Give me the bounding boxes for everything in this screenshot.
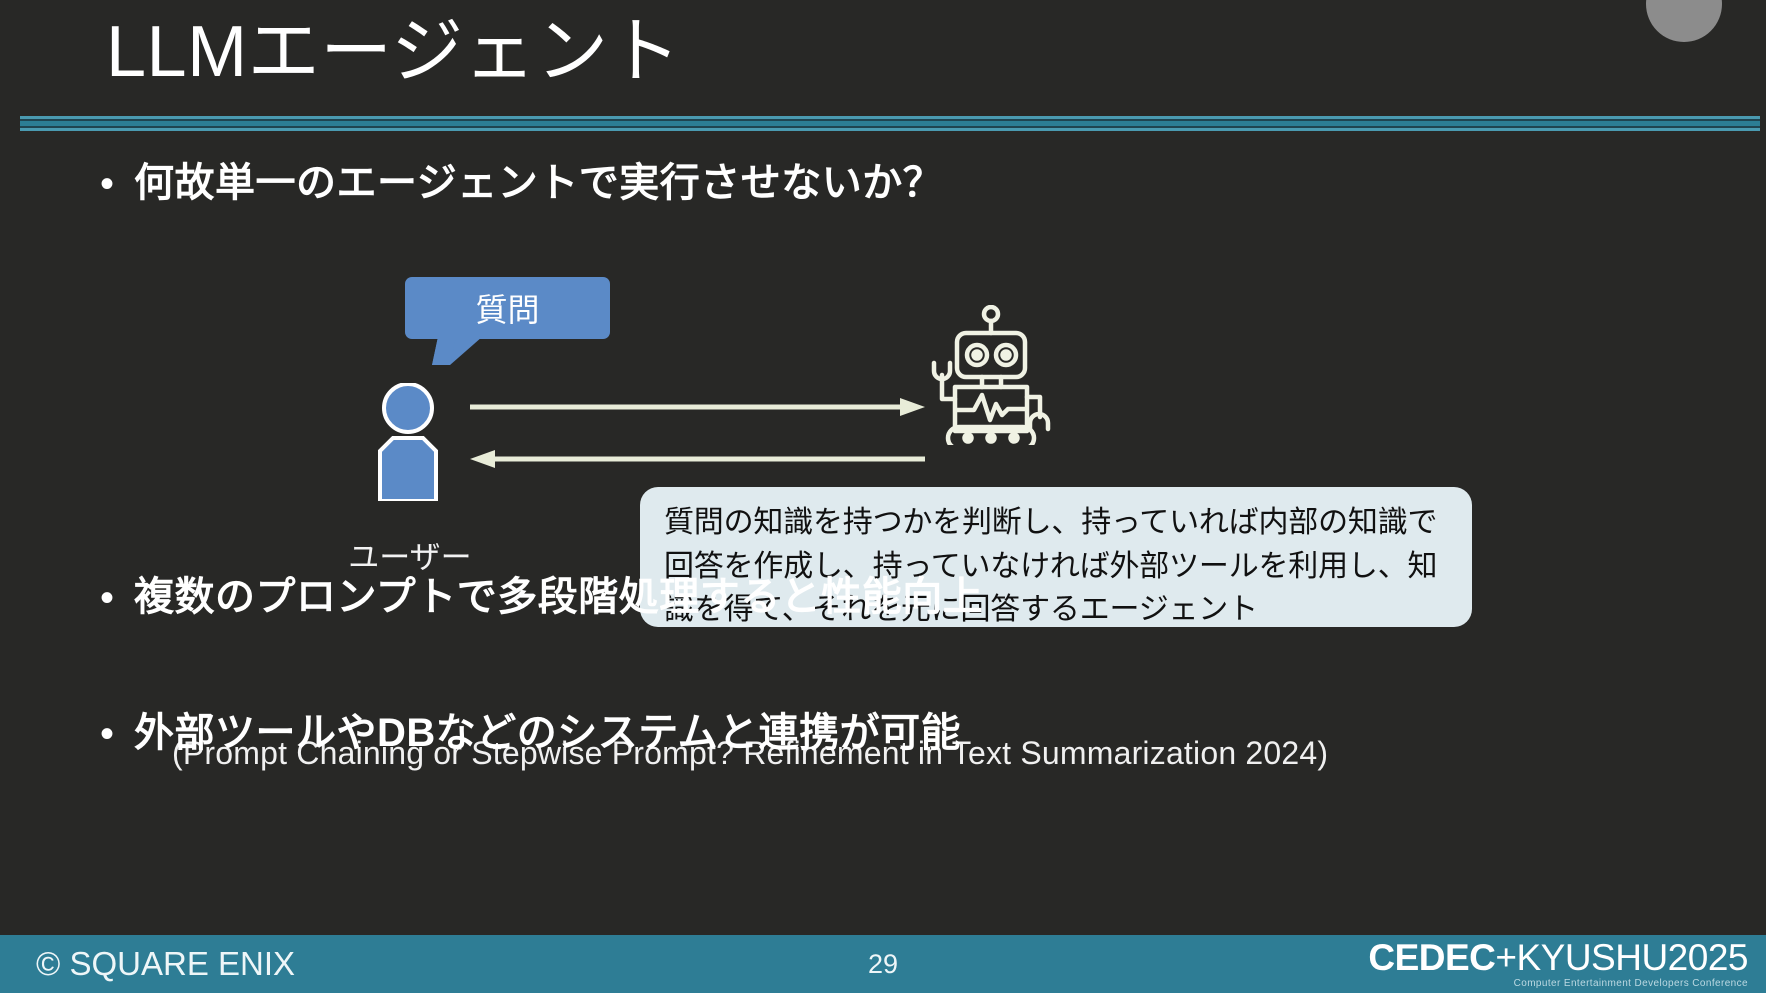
- user-person-icon: [368, 383, 448, 501]
- logo-subtitle: Computer Entertainment Developers Confer…: [1358, 979, 1748, 989]
- bullet-text-3: 外部ツールやDBなどのシステムと連携が可能: [134, 708, 961, 758]
- presentation-slide: LLMエージェント • 何故単一のエージェントで実行させないか？ 質問 ユーザー: [0, 0, 1766, 993]
- cedec-kyushu-logo: CEDEC+KYUSHU2025 Computer Entertainment …: [1358, 939, 1748, 991]
- bullet-text-2: 複数のプロンプトで多段階処理すると性能向上: [134, 572, 983, 622]
- divider-line-bottom: [20, 128, 1760, 131]
- bullet-marker-icon: •: [100, 164, 134, 204]
- logo-cedec-text: CEDEC: [1368, 937, 1495, 978]
- media-control-button[interactable]: [1646, 0, 1722, 42]
- slide-footer: © SQUARE ENIX 29 CEDEC+KYUSHU2025 Comput…: [0, 935, 1766, 993]
- speech-bubble: 質問: [405, 277, 610, 339]
- bullet-item-3: • 外部ツールやDBなどのシステムと連携が可能: [100, 708, 961, 758]
- bullet-marker-icon: •: [100, 714, 134, 754]
- bullet-item-1: • 何故単一のエージェントで実行させないか？: [100, 158, 943, 208]
- speech-bubble-label: 質問: [475, 285, 539, 331]
- logo-main-text: CEDEC+KYUSHU2025: [1358, 939, 1748, 976]
- logo-kyushu-text: +KYUSHU2025: [1495, 937, 1748, 978]
- bullet-text-1: 何故単一のエージェントで実行させないか？: [134, 158, 943, 208]
- bullet-item-2: • 複数のプロンプトで多段階処理すると性能向上: [100, 572, 983, 622]
- speech-bubble-tail-icon: [432, 337, 482, 365]
- title-divider: [20, 116, 1760, 131]
- slide-title: LLMエージェント: [106, 10, 681, 95]
- bullet-marker-icon: •: [100, 578, 134, 618]
- robot-agent-icon: [930, 305, 1052, 445]
- user-label: ユーザー: [330, 532, 490, 577]
- arrow-response-icon: [470, 448, 925, 470]
- arrow-request-icon: [470, 396, 925, 418]
